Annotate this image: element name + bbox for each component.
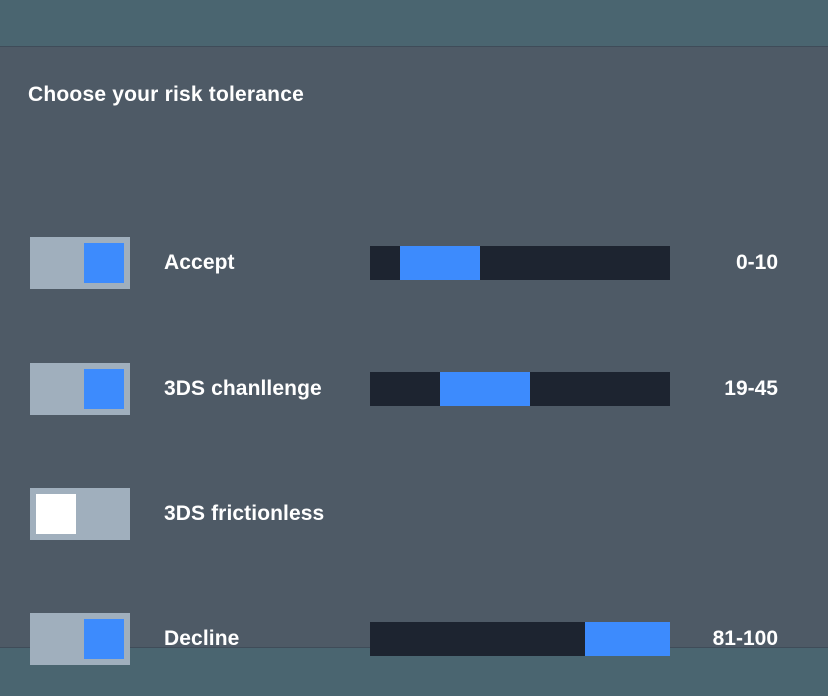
toggle-switch-3ds-chanllenge[interactable] [30,363,130,415]
range-value-accept: 0-10 [678,237,778,289]
toggle-switch-3ds-frictionless[interactable] [30,488,130,540]
risk-tolerance-rows: Accept0-103DS chanllenge19-453DS frictio… [0,47,828,649]
risk-row-label-3ds-frictionless: 3DS frictionless [164,488,324,540]
range-slider-fill[interactable] [585,622,670,656]
risk-row-3ds-frictionless: 3DS frictionless [0,488,828,540]
risk-row-3ds-chanllenge: 3DS chanllenge19-45 [0,363,828,415]
risk-row-label-3ds-chanllenge: 3DS chanllenge [164,363,322,415]
range-slider-fill[interactable] [440,372,530,406]
range-slider-accept[interactable] [370,246,670,280]
toggle-knob-icon [84,619,124,659]
risk-tolerance-panel: Choose your risk tolerance Accept0-103DS… [0,46,828,648]
range-value-decline: 81-100 [678,613,778,665]
toggle-switch-decline[interactable] [30,613,130,665]
range-value-3ds-chanllenge: 19-45 [678,363,778,415]
risk-tolerance-screen: Choose your risk tolerance Accept0-103DS… [0,0,828,696]
range-slider-3ds-chanllenge[interactable] [370,372,670,406]
risk-row-accept: Accept0-10 [0,237,828,289]
toggle-switch-accept[interactable] [30,237,130,289]
risk-row-label-decline: Decline [164,613,239,665]
risk-row-label-accept: Accept [164,237,235,289]
range-slider-fill[interactable] [400,246,480,280]
toggle-knob-icon [84,243,124,283]
risk-row-decline: Decline81-100 [0,613,828,665]
toggle-knob-icon [36,494,76,534]
range-slider-decline[interactable] [370,622,670,656]
toggle-knob-icon [84,369,124,409]
